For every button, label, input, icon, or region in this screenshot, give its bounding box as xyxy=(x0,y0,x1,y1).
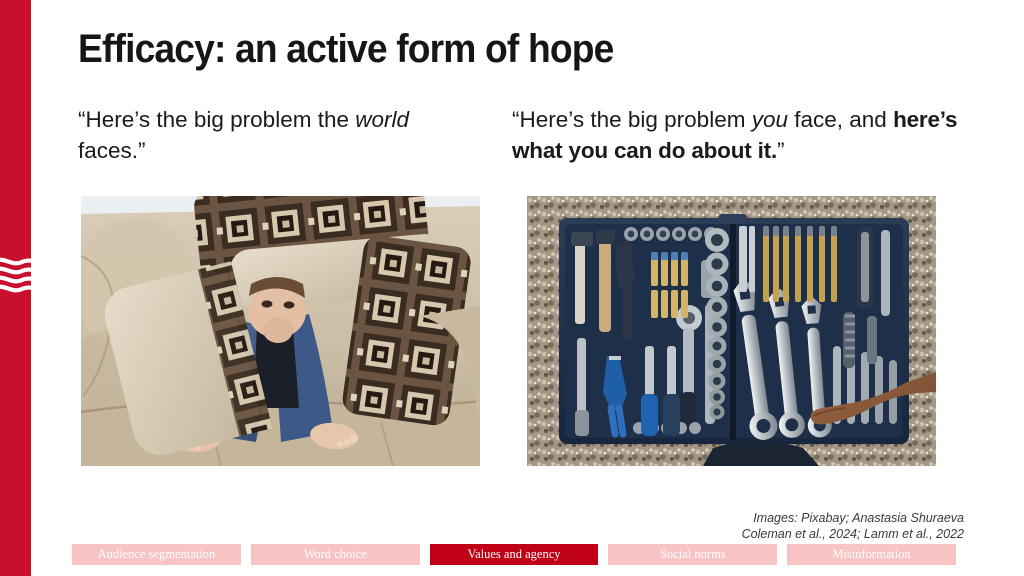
right-quote-text: “Here’s the big problem you face, and he… xyxy=(512,104,962,166)
tab-audience-segmentation[interactable]: Audience segmentation xyxy=(72,544,241,565)
left-accent-bar xyxy=(0,0,31,576)
right-quote-emphasis: you xyxy=(752,107,788,132)
left-quote-part2: faces.” xyxy=(78,138,146,163)
child-hiding-behind-couch-pillows-photo xyxy=(81,196,480,466)
image-credits: Images: Pixabay; Anastasia Shuraeva Cole… xyxy=(742,511,964,542)
credits-line-2: Coleman et al., 2024; Lamm et al., 2022 xyxy=(742,527,964,543)
left-quote-text: “Here’s the big problem the world faces.… xyxy=(78,104,478,166)
right-quote-part3: ” xyxy=(777,138,785,163)
right-quote-part1: “Here’s the big problem xyxy=(512,107,752,132)
credits-line-1: Images: Pixabay; Anastasia Shuraeva xyxy=(742,511,964,527)
left-quote-part1: “Here’s the big problem the xyxy=(78,107,355,132)
open-toolbox-with-hand-photo xyxy=(527,196,936,466)
footer-tab-bar: Audience segmentation Word choice Values… xyxy=(72,544,956,565)
page-title: Efficacy: an active form of hope xyxy=(78,26,878,72)
right-quote-part2: face, and xyxy=(788,107,893,132)
slide-canvas: Efficacy: an active form of hope “Here’s… xyxy=(0,0,1024,576)
tab-values-and-agency[interactable]: Values and agency xyxy=(430,544,599,565)
wave-lines-icon xyxy=(0,255,46,293)
left-quote-emphasis: world xyxy=(355,107,409,132)
tab-word-choice[interactable]: Word choice xyxy=(251,544,420,565)
tab-misinformation[interactable]: Misinformation xyxy=(787,544,956,565)
tab-social-norms[interactable]: Social norms xyxy=(608,544,777,565)
